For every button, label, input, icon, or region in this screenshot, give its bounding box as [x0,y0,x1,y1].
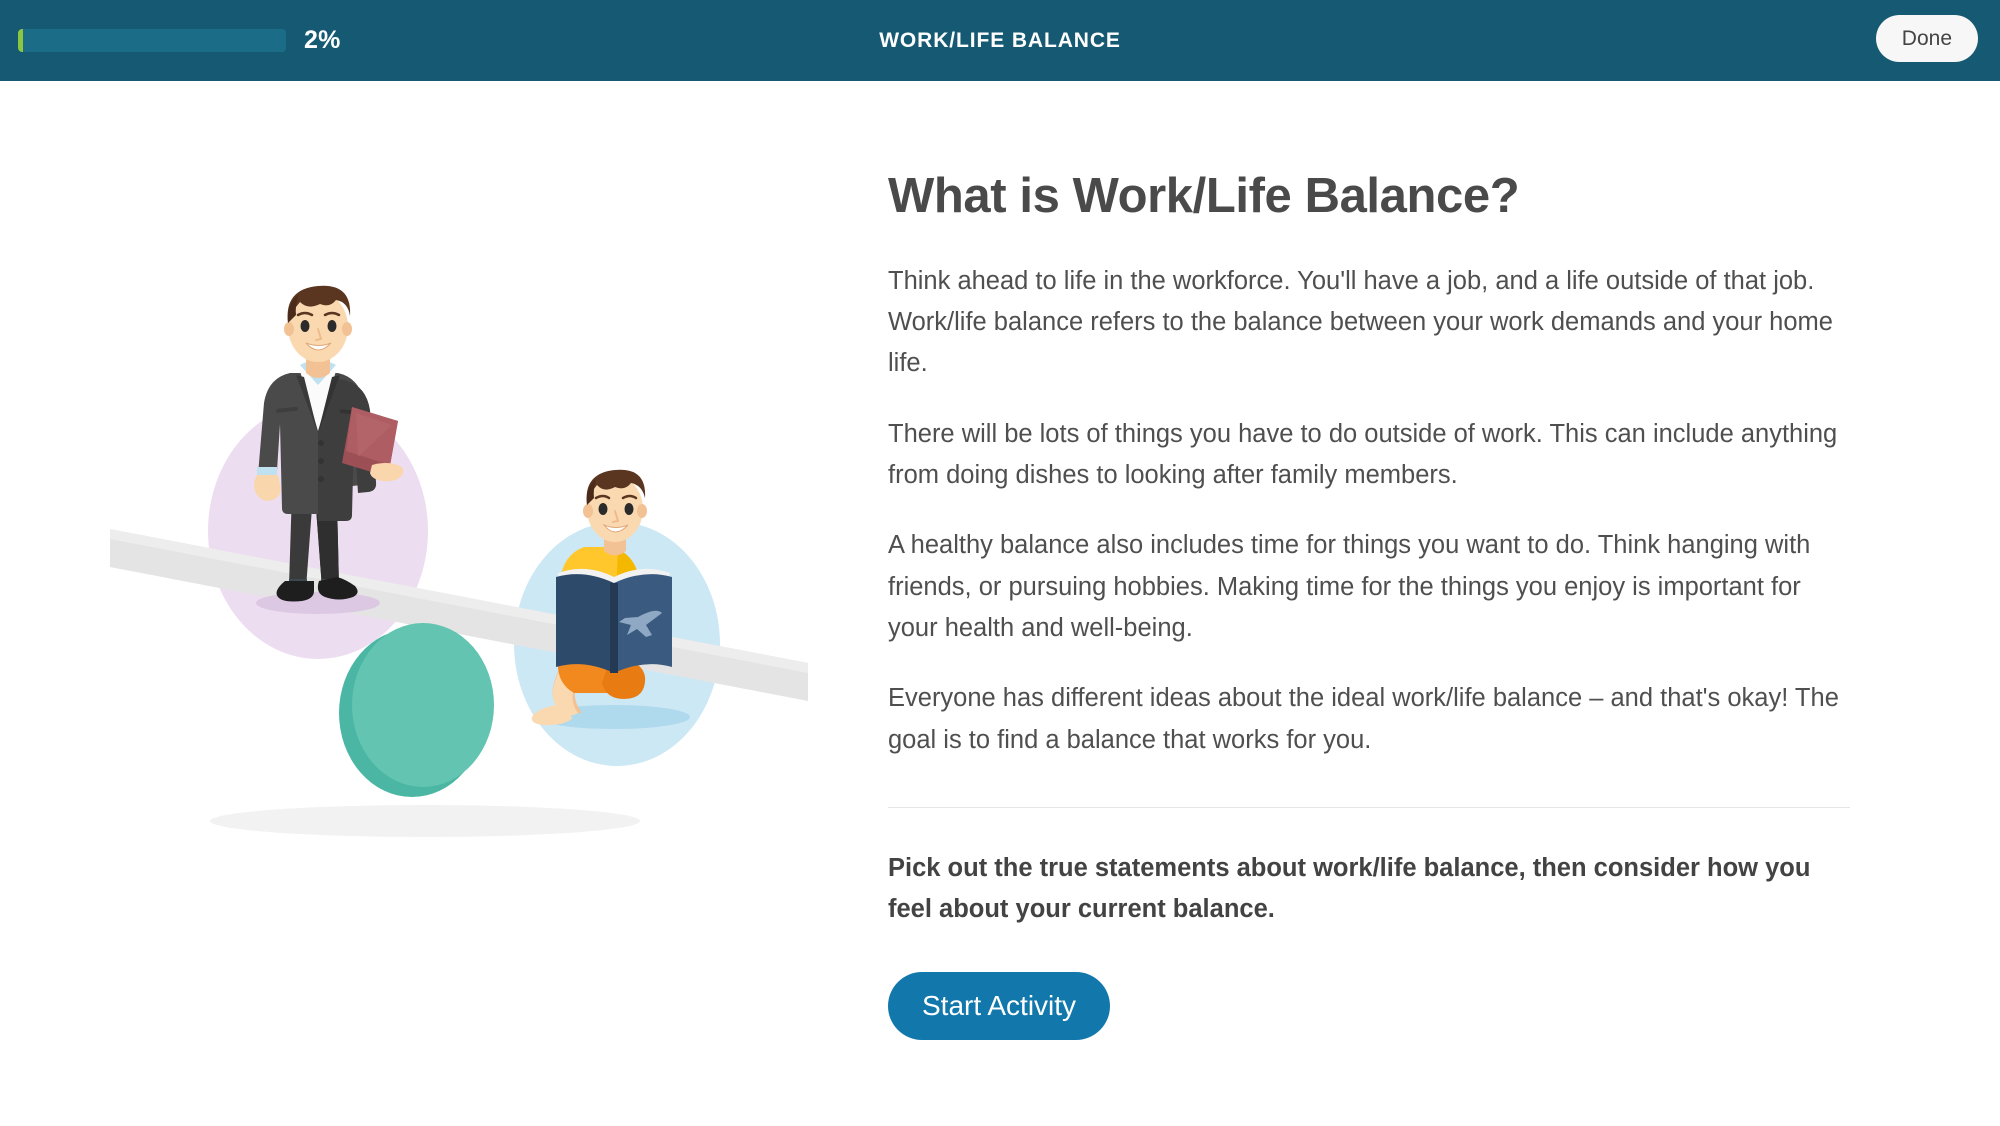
done-button[interactable]: Done [1876,15,1978,62]
body-paragraph-1: Think ahead to life in the workforce. Yo… [888,261,1848,385]
activity-prompt: Pick out the true statements about work/… [888,848,1848,931]
work-life-balance-illustration [90,281,830,851]
ground-shadow-ellipse [210,805,640,837]
start-activity-button[interactable]: Start Activity [888,972,1110,1040]
app-header: 2% WORK/LIFE BALANCE Done [0,0,2000,81]
body-paragraph-4: Everyone has different ideas about the i… [888,678,1848,761]
page-title-header: WORK/LIFE BALANCE [0,29,2000,53]
illustration-pane [0,81,880,1126]
text-pane: What is Work/Life Balance? Think ahead t… [880,81,2000,1126]
fulcrum-ball [339,623,494,797]
open-book [556,569,672,673]
section-divider [888,807,1850,808]
page-title: What is Work/Life Balance? [888,169,1930,224]
body-paragraph-3: A healthy balance also includes time for… [888,525,1848,649]
main-content: What is Work/Life Balance? Think ahead t… [0,81,2000,1126]
body-paragraph-2: There will be lots of things you have to… [888,414,1848,497]
